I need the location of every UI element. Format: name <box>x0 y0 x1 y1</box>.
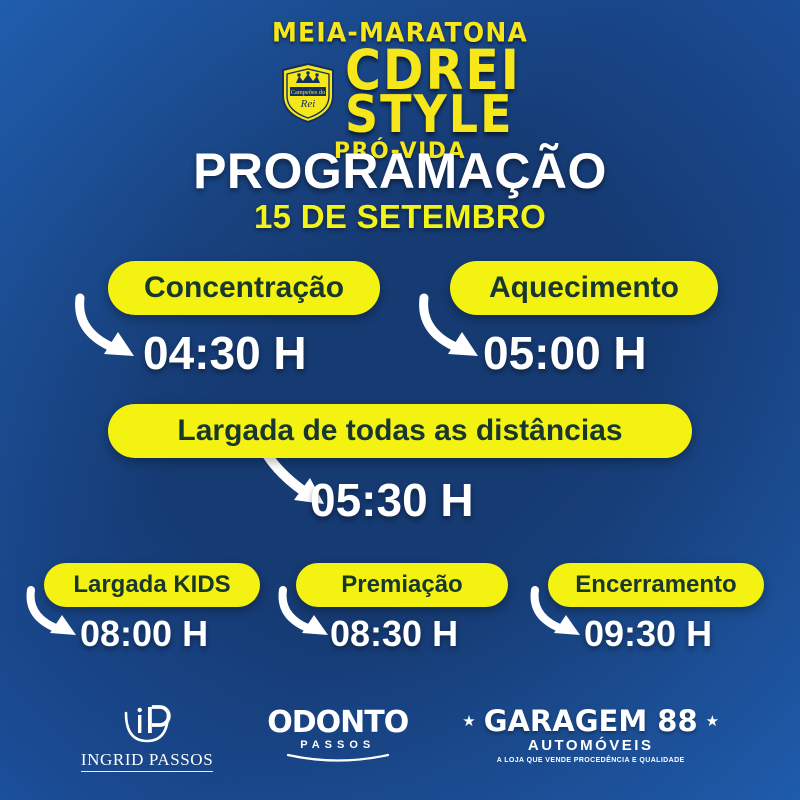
sponsor-odonto-passos: ODONTO PASSOS <box>267 708 408 763</box>
sponsor-odonto-word: ODONTO <box>267 708 408 738</box>
schedule-label-largada-kids: Largada KIDS <box>44 563 260 607</box>
schedule-time-premiacao: 08:30 H <box>330 613 458 655</box>
schedule-label-encerramento: Encerramento <box>548 563 764 607</box>
schedule-label-premiacao: Premiação <box>296 563 508 607</box>
sponsor-bar: INGRID PASSOS ODONTO PASSOS ★ GARAGEM 88… <box>0 692 800 778</box>
svg-text:Rei: Rei <box>300 98 316 110</box>
sponsor-ingrid-passos: INGRID PASSOS <box>81 699 213 772</box>
ip-monogram-icon <box>118 699 176 749</box>
sponsor-garagem-tagline: A LOJA QUE VENDE PROCEDÊNCIA E QUALIDADE <box>497 757 685 764</box>
schedule-time-aquecimento: 05:00 H <box>483 326 647 380</box>
logo-name-line2: STYLE <box>345 91 514 138</box>
crown-shield-icon: Campeões do Rei <box>279 62 337 124</box>
schedule-time-concentracao: 04:30 H <box>143 326 307 380</box>
event-schedule-poster: MEIA-MARATONA Campeões do Rei CDREI STYL… <box>0 0 800 800</box>
swoosh-icon <box>286 753 390 763</box>
schedule-time-largada-kids: 08:00 H <box>80 613 208 655</box>
event-date: 15 DE SETEMBRO <box>0 198 800 236</box>
svg-text:Campeões do: Campeões do <box>291 89 326 96</box>
sponsor-odonto-sub: PASSOS <box>300 739 375 751</box>
schedule-time-largada: 05:30 H <box>310 473 474 527</box>
schedule-time-encerramento: 09:30 H <box>584 613 712 655</box>
star-icon: ★ <box>462 714 475 729</box>
sponsor-garagem-sub: AUTOMÓVEIS <box>528 737 654 754</box>
sponsor-ingrid-name: INGRID PASSOS <box>81 750 213 772</box>
schedule-label-largada: Largada de todas as distâncias <box>108 404 692 458</box>
sponsor-garagem-88: ★ GARAGEM 88 ★ AUTOMÓVEIS A LOJA QUE VEN… <box>462 707 719 764</box>
star-icon: ★ <box>706 714 719 729</box>
schedule-label-aquecimento: Aquecimento <box>450 261 718 315</box>
schedule-label-concentracao: Concentração <box>108 261 380 315</box>
page-title: PROGRAMAÇÃO <box>0 142 800 200</box>
sponsor-garagem-word: GARAGEM 88 <box>484 707 698 736</box>
